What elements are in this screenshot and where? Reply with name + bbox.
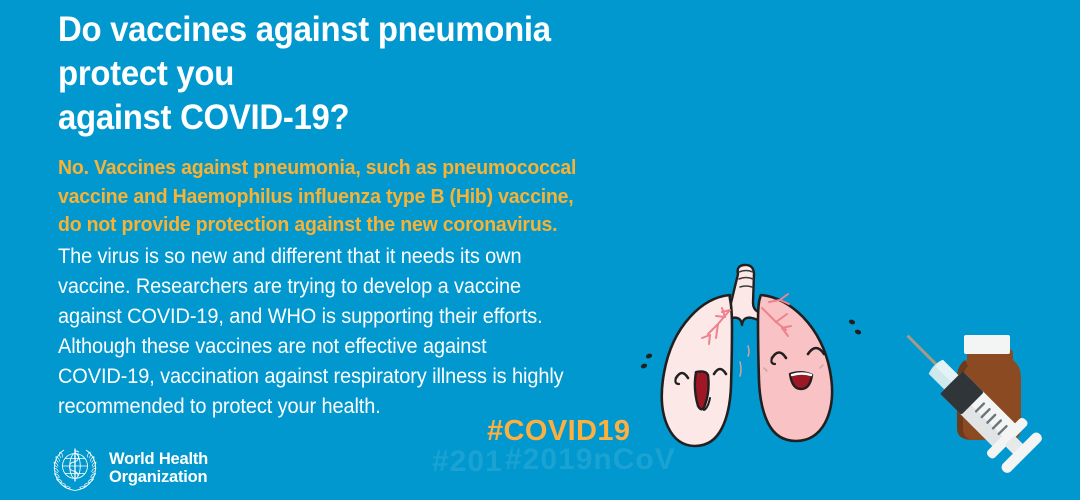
left-lung-mouth (695, 371, 709, 409)
who-logo: World Health Organization (50, 443, 208, 493)
infographic-card: Do vaccines against pneumonia protect yo… (0, 0, 1080, 500)
who-emblem-icon (50, 443, 100, 493)
body-paragraph: The virus is so new and different that i… (58, 242, 647, 422)
syringe-needle (906, 335, 939, 368)
watermark-ghost-text: #201 (432, 445, 503, 479)
text-column: Do vaccines against pneumonia protect yo… (58, 8, 678, 422)
lungs-group (640, 265, 862, 446)
who-wordmark: World Health Organization (109, 450, 208, 486)
syringe-and-vial-illustration (865, 300, 1050, 475)
lead-paragraph: No. Vaccines against pneumonia, such as … (58, 154, 647, 240)
smiling-lungs-illustration (630, 250, 880, 460)
page-title: Do vaccines against pneumonia protect yo… (58, 8, 641, 140)
hashtag-covid19: #COVID19 (487, 415, 630, 448)
vial-cap (964, 335, 1010, 354)
